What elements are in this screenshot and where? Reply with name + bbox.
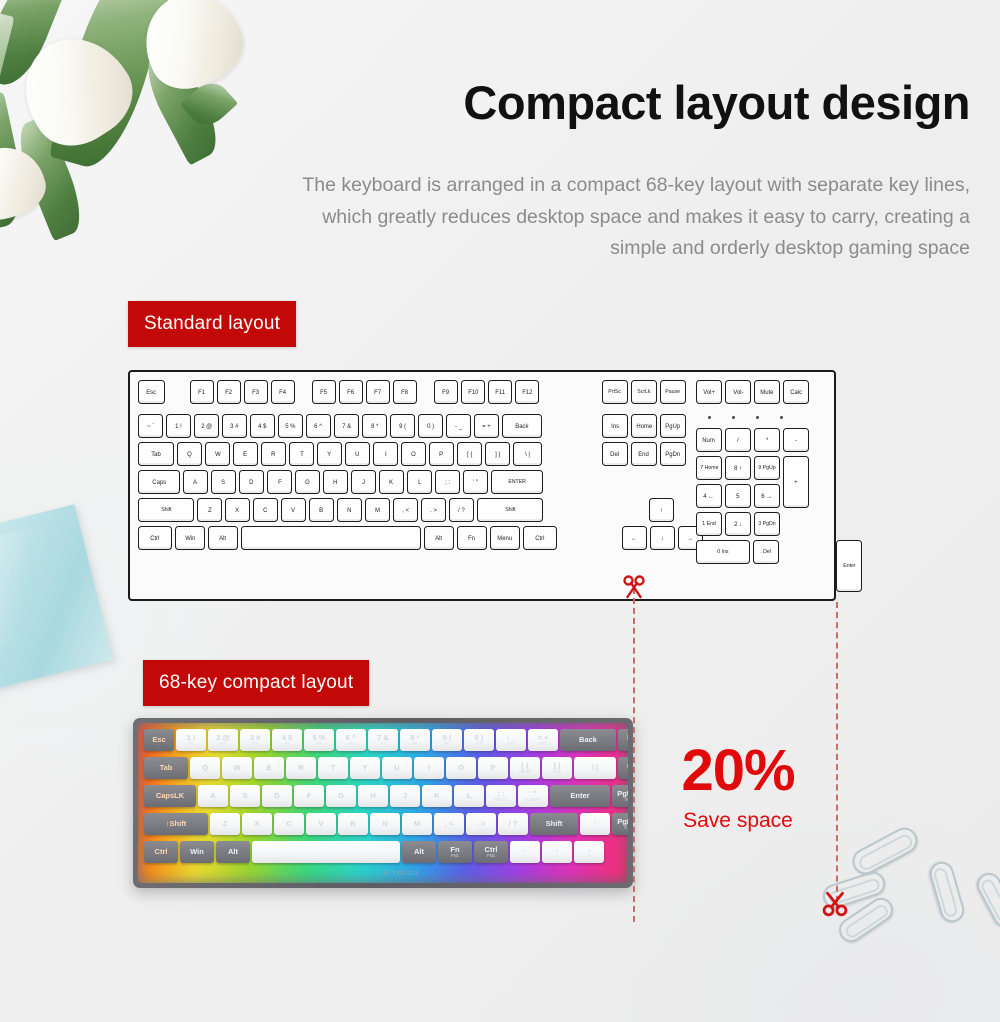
label-compact-text: 68-key compact layout: [159, 672, 353, 694]
key-d: D: [239, 470, 264, 494]
key-enter: ENTER: [491, 470, 543, 494]
key--: ↓: [650, 526, 675, 550]
key-shift: Shift: [138, 498, 194, 522]
key-6-: 6 ^: [306, 414, 331, 438]
key-n: N: [370, 813, 400, 835]
key-back: Back: [560, 729, 616, 751]
key--: *: [754, 428, 780, 452]
key--: ] }: [485, 442, 510, 466]
key-fn: FnFN1: [438, 841, 472, 863]
key--: . >: [466, 813, 496, 835]
key-u: U: [382, 757, 412, 779]
cut-line-left: [633, 588, 635, 922]
save-percent-value: 20%: [648, 742, 828, 800]
key-f5: F5: [312, 380, 336, 404]
key-h: H: [358, 785, 388, 807]
numpad-row: 4 ←56 →: [696, 484, 783, 508]
key-tab: Tab: [144, 757, 188, 779]
key--: ] }END: [542, 757, 572, 779]
key--: ; :PRTSC: [486, 785, 516, 807]
key--: , <: [393, 498, 418, 522]
key-3-pgdn: 3 PgDn: [754, 512, 780, 536]
key-capslk: CapsLK: [144, 785, 196, 807]
key-u: U: [345, 442, 370, 466]
key-pgdn: PgDnC+: [612, 813, 628, 835]
standard-modifier-row: CtrlWinAltAltFnMenuCtrl: [138, 526, 560, 550]
compact-modifier-row: CtrlWinAltAltFnFN1CtrlFN2←\↓☆→\\: [144, 841, 606, 863]
key--: ←\: [510, 841, 540, 863]
key-pgup: PgUpM: [612, 785, 628, 807]
key-pgup: PgUp: [660, 414, 686, 438]
key-d: D: [262, 785, 292, 807]
key-r: R: [286, 757, 316, 779]
key-f11: F11: [488, 380, 512, 404]
key-9-: 9 (F9: [432, 729, 462, 751]
key-f10: F10: [461, 380, 485, 404]
standard-qwerty-row: TabQWERTYUIOP[ {] }\ |: [138, 442, 545, 466]
key-g: G: [295, 470, 320, 494]
key-9-: 9 (: [390, 414, 415, 438]
compact-qwerty-row: TabQWERTYUIOP[ {HOME] }END\ |\ ←: [144, 757, 628, 779]
key--: ↑☆: [580, 813, 610, 835]
key-alt: Alt: [216, 841, 250, 863]
key-f2: F2: [217, 380, 241, 404]
key-pgdn: PgDn: [660, 442, 686, 466]
standard-home-row: CapsASDFGHJKL; :' "ENTER: [138, 470, 546, 494]
key--: - _F11: [496, 729, 526, 751]
key--: ' ": [463, 470, 488, 494]
key-win: Win: [175, 526, 205, 550]
key-t: T: [318, 757, 348, 779]
key-g: G: [326, 785, 356, 807]
key-pause: Pause: [660, 380, 686, 404]
key-ins: Ins: [602, 414, 628, 438]
key-f12: F12: [515, 380, 539, 404]
arrow-lower-row: ←↓→: [622, 526, 706, 550]
key-e: E: [233, 442, 258, 466]
key--shift: ↑Shift: [144, 813, 208, 835]
key-7-: 7 &: [334, 414, 359, 438]
key-8-: 8 *F8: [400, 729, 430, 751]
key--: ↑: [649, 498, 674, 522]
key-back: Back: [502, 414, 542, 438]
nav-row: InsHomePgUp: [602, 414, 689, 438]
key--: = +F12: [528, 729, 558, 751]
key-i: I: [373, 442, 398, 466]
key-1-: 1 !F1: [176, 729, 206, 751]
tulip-flowers-photo: [0, 0, 310, 226]
key-a: A: [183, 470, 208, 494]
standard-number-row: ~ `1 !2 @3 #4 $5 %6 ^7 &8 *9 (0 )- _= +B…: [138, 414, 545, 438]
key-f7: F7: [366, 380, 390, 404]
standard-function-row: EscF1F2F3F4F5F6F7F8F9F10F11F12: [138, 380, 542, 404]
key-p: P: [429, 442, 454, 466]
key-e: E: [254, 757, 284, 779]
key-shift: Shift: [477, 498, 543, 522]
key--del: . Del: [753, 540, 779, 564]
key-ctrl: Ctrl: [138, 526, 172, 550]
key-1-end: 1 End: [696, 512, 722, 536]
media-row: Vol+Vol-MuteCalc: [696, 380, 812, 404]
key-5: 5: [725, 484, 751, 508]
key-f: F: [294, 785, 324, 807]
numpad-row: 0 Ins. DelEnter: [696, 540, 865, 592]
key-w: W: [222, 757, 252, 779]
key-o: O: [401, 442, 426, 466]
compact-keyboard-body: Esc1 !F12 @F23 #F34 $F45 %F56 ^F67 &F78 …: [138, 723, 628, 883]
key-f6: F6: [339, 380, 363, 404]
indicator-led: [732, 416, 735, 419]
arrow-up-row: ↑: [649, 498, 677, 522]
key-esc: Esc: [144, 729, 174, 751]
nav-row: PrtScScrLkPause: [602, 380, 689, 404]
key-ctrl: CtrlFN2: [474, 841, 508, 863]
key-esc: Esc: [138, 380, 165, 404]
compact-shift-row: ↑ShiftZXCVBNM, <. >/ ?Shift↑☆PgDnC+: [144, 813, 628, 835]
key-c: C: [274, 813, 304, 835]
key-l: L: [407, 470, 432, 494]
key--: +: [783, 456, 809, 508]
key-enter: Enter: [550, 785, 610, 807]
compact-home-row: CapsLKASDFGHJKL; :PRTSC' "INSERTEnterPgU…: [144, 785, 628, 807]
key-6-: 6 →: [754, 484, 780, 508]
key-0-ins: 0 Ins: [696, 540, 750, 564]
key-f1: F1: [190, 380, 214, 404]
numpad-row: 1 End2 ↓3 PgDn: [696, 512, 783, 536]
key-alt: Alt: [208, 526, 238, 550]
key--: →\\: [574, 841, 604, 863]
compact-number-row: Esc1 !F12 @F23 #F34 $F45 %F56 ^F67 &F78 …: [144, 729, 628, 751]
key-w: W: [205, 442, 230, 466]
key--: ↓☆: [542, 841, 572, 863]
key--: [ {: [457, 442, 482, 466]
compact-keyboard-diagram: Esc1 !F12 @F23 #F34 $F45 %F56 ^F67 &F78 …: [133, 718, 633, 888]
key-home: Home: [631, 414, 657, 438]
key-s: S: [230, 785, 260, 807]
key--: ←: [622, 526, 647, 550]
key-del: Del⌫: [618, 729, 628, 751]
key-calc: Calc: [783, 380, 809, 404]
key--: , <: [434, 813, 464, 835]
key-end: End: [631, 442, 657, 466]
key-r: R: [261, 442, 286, 466]
key-k: K: [379, 470, 404, 494]
key-num: Num: [696, 428, 722, 452]
indicator-led: [756, 416, 759, 419]
key-a: A: [198, 785, 228, 807]
key-8-: 8 ↑: [725, 456, 751, 480]
save-space-caption: Save space: [648, 809, 828, 833]
key-c: C: [253, 498, 278, 522]
key-q: Q: [177, 442, 202, 466]
key-f: F: [267, 470, 292, 494]
key-l: L: [454, 785, 484, 807]
key-v: V: [281, 498, 306, 522]
key--: \ |: [513, 442, 542, 466]
key--: . >: [421, 498, 446, 522]
key-f3: F3: [244, 380, 268, 404]
key-3-: 3 #F3: [240, 729, 270, 751]
key-f8: F8: [393, 380, 417, 404]
key-shift: Shift: [530, 813, 578, 835]
key-i: I: [414, 757, 444, 779]
label-standard-layout: Standard layout: [128, 301, 296, 347]
key-ctrl: Ctrl: [144, 841, 178, 863]
key--: = +: [474, 414, 499, 438]
label-compact-layout: 68-key compact layout: [143, 660, 369, 706]
key-5-: 5 %F5: [304, 729, 334, 751]
page-title: Compact layout design: [310, 78, 970, 129]
key--: \ ←: [618, 757, 628, 779]
key-0-: 0 ): [418, 414, 443, 438]
brand-logo-text: E-YOOSO: [384, 870, 419, 877]
key-t: T: [289, 442, 314, 466]
key-enter: Enter: [836, 540, 862, 592]
key-f4: F4: [271, 380, 295, 404]
key-alt: Alt: [402, 841, 436, 863]
key-z: Z: [197, 498, 222, 522]
key-f9: F9: [434, 380, 458, 404]
key-b: B: [338, 813, 368, 835]
key-4-: 4 ←: [696, 484, 722, 508]
key-h: H: [323, 470, 348, 494]
key--: [ {HOME: [510, 757, 540, 779]
key-ctrl: Ctrl: [523, 526, 557, 550]
key--: ~ `: [138, 414, 163, 438]
cut-line-right: [836, 602, 838, 912]
key-2-: 2 @: [194, 414, 219, 438]
numpad-row: Num/*-: [696, 428, 812, 452]
key-m: M: [365, 498, 390, 522]
page-description: The keyboard is arranged in a compact 68…: [282, 170, 970, 265]
key-prtsc: PrtSc: [602, 380, 628, 404]
key-3-: 3 #: [222, 414, 247, 438]
key-5-: 5 %: [278, 414, 303, 438]
key-mute: Mute: [754, 380, 780, 404]
key-scrlk: ScrLk: [631, 380, 657, 404]
key-8-: 8 *: [362, 414, 387, 438]
key-7-home: 7 Home: [696, 456, 722, 480]
standard-keyboard-diagram: EscF1F2F3F4F5F6F7F8F9F10F11F12~ `1 !2 @3…: [128, 370, 836, 601]
key-j: J: [390, 785, 420, 807]
key-k: K: [422, 785, 452, 807]
key-2-: 2 ↓: [725, 512, 751, 536]
key-x: X: [225, 498, 250, 522]
key-q: Q: [190, 757, 220, 779]
key-caps: Caps: [138, 470, 180, 494]
key-4-: 4 $: [250, 414, 275, 438]
scissors-icon: [820, 890, 850, 920]
key-space: [241, 526, 421, 550]
key-y: Y: [317, 442, 342, 466]
key--: ; :: [435, 470, 460, 494]
key-4-: 4 $F4: [272, 729, 302, 751]
key-menu: Menu: [490, 526, 520, 550]
key-v: V: [306, 813, 336, 835]
key-s: S: [211, 470, 236, 494]
key-z: Z: [210, 813, 240, 835]
key-p: P: [478, 757, 508, 779]
key-x: X: [242, 813, 272, 835]
key-vol-: Vol+: [696, 380, 722, 404]
key-9-pgup: 9 PgUp: [754, 456, 780, 480]
key-space: [252, 841, 400, 863]
key-1-: 1 !: [166, 414, 191, 438]
key-7-: 7 &F7: [368, 729, 398, 751]
key-win: Win: [180, 841, 214, 863]
key-tab: Tab: [138, 442, 174, 466]
key-2-: 2 @F2: [208, 729, 238, 751]
key-vol-: Vol-: [725, 380, 751, 404]
key--: -: [783, 428, 809, 452]
key--: / ?: [498, 813, 528, 835]
key-m: M: [402, 813, 432, 835]
key--: - _: [446, 414, 471, 438]
key-b: B: [309, 498, 334, 522]
key--: ' "INSERT: [518, 785, 548, 807]
label-standard-text: Standard layout: [144, 313, 280, 335]
key-0-: 0 )F10: [464, 729, 494, 751]
key--: / ?: [449, 498, 474, 522]
key-o: O: [446, 757, 476, 779]
indicator-led: [708, 416, 711, 419]
key--: /: [725, 428, 751, 452]
key-alt: Alt: [424, 526, 454, 550]
key-6-: 6 ^F6: [336, 729, 366, 751]
scissors-icon: [620, 572, 648, 600]
standard-shift-row: ShiftZXCVBNM, <. >/ ?Shift: [138, 498, 546, 522]
indicator-led: [780, 416, 783, 419]
key-j: J: [351, 470, 376, 494]
key-fn: Fn: [457, 526, 487, 550]
nav-row: DelEndPgDn: [602, 442, 689, 466]
key-del: Del: [602, 442, 628, 466]
save-space-callout: 20% Save space: [648, 742, 828, 833]
key-n: N: [337, 498, 362, 522]
key-y: Y: [350, 757, 380, 779]
key--: \ |: [574, 757, 616, 779]
